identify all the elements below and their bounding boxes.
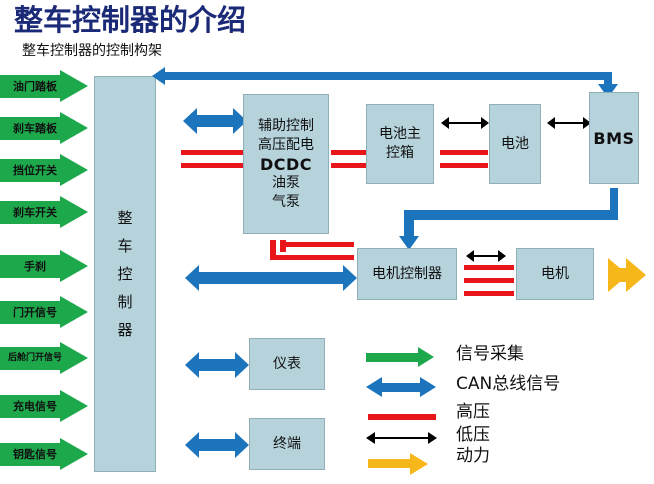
vcu-char-0: 整 <box>117 204 132 232</box>
legend-label: CAN总线信号 <box>456 373 560 395</box>
can-line-bms-to-mcu-horizontal <box>404 210 618 220</box>
arrow-shaft <box>198 439 236 451</box>
hv-bar-dcdc-mcu-2 <box>276 255 354 260</box>
input-label: 刹车踏板 <box>4 118 66 139</box>
vcu-char-4: 器 <box>117 316 132 344</box>
bms-box[interactable]: BMS <box>589 92 639 184</box>
can-arrow-vcu-dcdc <box>183 108 247 134</box>
arrow-head-right <box>235 432 249 458</box>
lv-arrow-battery-bms <box>547 117 591 129</box>
arrow-head-right <box>343 265 357 291</box>
input-label: 后舱门开信号 <box>4 348 66 369</box>
hv-bar-dcdc-batterymain-1 <box>331 150 366 155</box>
vcu-label-vertical: 整 车 控 制 器 <box>117 204 132 344</box>
arrow-shaft <box>447 122 483 124</box>
terminal-lines: 终端 <box>250 435 324 454</box>
can-arrow-vcu-instrument <box>185 352 249 378</box>
hv-bar-vcu-dcdc-2 <box>181 163 243 168</box>
hv-bar-mcu-motor-1 <box>464 265 514 270</box>
input-label: 油门踏板 <box>4 76 66 97</box>
can-arrow-vcu-terminal <box>185 432 249 458</box>
arrow-shaft <box>198 272 344 284</box>
blue-arrow-icon-body <box>380 383 422 392</box>
blue-arrow-icon-head-right <box>420 377 436 397</box>
input-arrow-rear-hatch-signal[interactable]: 后舱门开信号 <box>0 342 88 375</box>
lv-arrow-mcu-motor <box>466 250 506 262</box>
input-arrow-door-open-signal[interactable]: 门开信号 <box>0 296 88 329</box>
dcdc-line-4: 气泵 <box>246 193 326 212</box>
arrow-head-left <box>185 432 199 458</box>
arrow-head-right <box>481 117 489 129</box>
vcu-char-1: 车 <box>117 232 132 260</box>
battery-line-0: 电池 <box>492 135 538 154</box>
bms-lines: BMS <box>590 129 638 148</box>
arrow-chevron-back <box>608 258 628 292</box>
hv-bar-mcu-motor-3 <box>464 291 514 296</box>
dcdc-lines: 辅助控制 高压配电 DCDC 油泵 气泵 <box>244 117 328 212</box>
vcu-char-2: 控 <box>117 260 132 288</box>
hv-bar-dcdc-mcu-1 <box>280 242 354 247</box>
input-arrow-brake-pedal[interactable]: 刹车踏板 <box>0 112 88 145</box>
yellow-arrow-icon-body <box>368 459 416 468</box>
arrow-chevron-front <box>626 258 646 292</box>
power-output-arrow <box>608 258 652 292</box>
motor-line-0: 电机 <box>519 265 591 284</box>
legend-item-signal-acquisition: 信号采集 <box>366 345 646 373</box>
diagram-canvas: 整车控制器的介绍 整车控制器的控制构架 油门踏板 刹车踏板 挡位开关 刹车开关 … <box>0 0 654 484</box>
input-arrow-charging-signal[interactable]: 充电信号 <box>0 390 88 423</box>
red-bar-icon <box>368 414 436 420</box>
input-arrow-accelerator-pedal[interactable]: 油门踏板 <box>0 70 88 103</box>
input-label: 钥匙信号 <box>4 444 66 465</box>
can-arrowhead-into-vcu <box>152 67 165 85</box>
input-arrow-gear-switch[interactable]: 挡位开关 <box>0 154 88 187</box>
motor-box[interactable]: 电机 <box>516 248 594 300</box>
green-arrow-icon-body <box>366 353 421 362</box>
battery-main-control-box[interactable]: 电池主 控箱 <box>366 104 434 184</box>
page-title: 整车控制器的介绍 <box>14 2 246 38</box>
dcdc-line-0: 辅助控制 <box>246 117 326 136</box>
battery-box[interactable]: 电池 <box>489 104 541 184</box>
input-label: 手刹 <box>4 256 66 277</box>
arrow-shaft <box>553 122 585 124</box>
legend-label: 动力 <box>456 445 490 467</box>
dcdc-line-1: 高压配电 <box>246 136 326 155</box>
hv-bar-mcu-motor-2 <box>464 278 514 283</box>
lv-arrow-batterymain-battery <box>441 117 489 129</box>
hv-bar-vcu-dcdc-1 <box>181 150 243 155</box>
black-arrow-icon-head-right <box>428 432 437 444</box>
motor-lines: 电机 <box>517 265 593 284</box>
legend-label: 高压 <box>456 401 490 423</box>
legend-item-power: 动力 <box>366 453 646 481</box>
legend-label: 信号采集 <box>456 343 524 365</box>
dcdc-line-2: DCDC <box>246 155 326 174</box>
hv-bar-batterymain-battery-2 <box>440 163 488 168</box>
battery-main-line-0: 电池主 <box>369 125 431 144</box>
motor-controller-lines: 电机控制器 <box>358 265 456 284</box>
arrow-head-left <box>185 352 199 378</box>
input-label: 充电信号 <box>4 396 66 417</box>
arrow-head-left <box>185 265 199 291</box>
input-label: 挡位开关 <box>4 160 66 181</box>
arrow-head-right <box>498 250 506 262</box>
battery-lines: 电池 <box>490 135 540 154</box>
input-label: 门开信号 <box>4 302 66 323</box>
input-label: 刹车开关 <box>4 202 66 223</box>
motor-controller-box[interactable]: 电机控制器 <box>357 248 457 300</box>
arrow-head-right <box>235 352 249 378</box>
input-arrow-handbrake[interactable]: 手刹 <box>0 250 88 283</box>
arrow-shaft <box>198 359 236 371</box>
input-arrow-brake-switch[interactable]: 刹车开关 <box>0 196 88 229</box>
instrument-cluster-box[interactable]: 仪表 <box>249 338 325 390</box>
legend-item-can-bus-signal: CAN总线信号 <box>366 375 646 403</box>
auxiliary-control-dcdc-box[interactable]: 辅助控制 高压配电 DCDC 油泵 气泵 <box>243 94 329 234</box>
bms-line-0: BMS <box>592 129 636 148</box>
arrow-shaft <box>472 255 500 257</box>
instrument-lines: 仪表 <box>250 355 324 374</box>
input-arrow-key-signal[interactable]: 钥匙信号 <box>0 438 88 471</box>
page-subtitle: 整车控制器的控制构架 <box>22 42 162 60</box>
arrow-head-left <box>183 108 197 134</box>
hv-bar-dcdc-batterymain-2 <box>331 163 366 168</box>
can-arrow-vcu-motor-controller <box>185 265 357 291</box>
battery-main-lines: 电池主 控箱 <box>367 125 433 163</box>
can-line-bms-to-vcu-horizontal <box>164 72 612 80</box>
green-arrow-icon-head <box>418 347 434 367</box>
yellow-arrow-icon-head <box>410 453 428 475</box>
instrument-line-0: 仪表 <box>252 355 322 374</box>
arrow-shaft <box>196 115 234 127</box>
battery-main-line-1: 控箱 <box>369 144 431 163</box>
hv-bar-batterymain-battery-1 <box>440 150 488 155</box>
dcdc-line-3: 油泵 <box>246 174 326 193</box>
vcu-char-3: 制 <box>117 288 132 316</box>
terminal-box[interactable]: 终端 <box>249 418 325 470</box>
black-arrow-icon-body <box>373 437 430 439</box>
vehicle-control-unit-box[interactable]: 整 车 控 制 器 <box>94 76 156 472</box>
terminal-line-0: 终端 <box>252 435 322 454</box>
motor-controller-line-0: 电机控制器 <box>360 265 454 284</box>
legend-label: 低压 <box>456 424 490 446</box>
